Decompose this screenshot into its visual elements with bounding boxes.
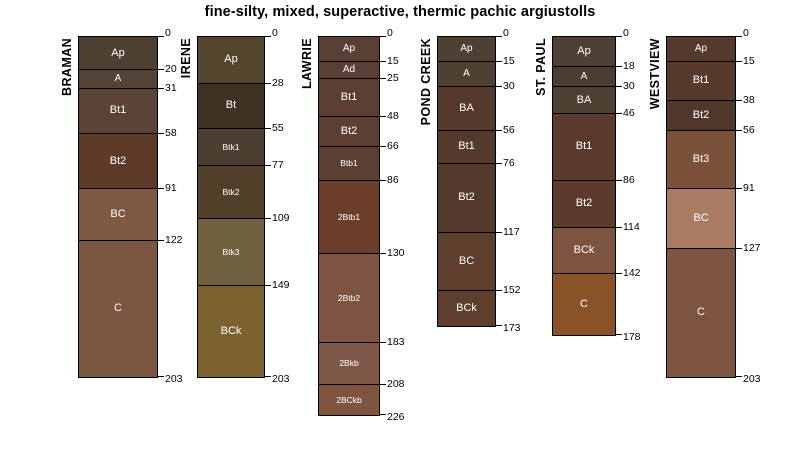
profile-name-label: ST. PAUL [534,38,548,96]
profile-column: ApBtBtk1Btk2Btk3BCk [197,36,265,378]
horizon-label: Ap [577,46,590,57]
horizon-label: BCk [574,245,595,256]
depth-tick-mark [264,128,271,129]
profile-name-label: BRAMAN [60,38,74,96]
horizon-label: BCk [221,326,242,337]
horizon-label: Ap [224,54,237,65]
depth-tick-label: 20 [165,64,177,75]
depth-tick-mark [379,78,386,79]
horizon-segment: A [438,62,495,87]
depth-tick-mark [157,133,164,134]
horizon-segment: BC [79,189,157,241]
horizon-label: 2Bkb [339,359,358,368]
profile-column: ApBt1Bt2Bt3BCC [666,36,736,378]
depth-tick-mark [495,130,502,131]
horizon-label: Ap [111,48,124,59]
depth-tick-label: 203 [165,374,183,385]
profile-column: ApABABt1Bt2BCkC [552,36,616,336]
profile-name-label: LAWRIE [300,38,314,89]
horizon-segment: Btb1 [319,147,379,180]
horizon-segment: A [79,70,157,88]
horizon-segment: Bt [198,84,264,129]
horizon-label: Bt1 [341,92,358,103]
profile-column: ApABt1Bt2BCC [78,36,158,378]
soil-profile-chart: BRAMANApABt1Bt2BCC020315891122203IRENEAp… [0,0,800,450]
horizon-label: Btk3 [222,248,239,257]
depth-tick-mark [495,61,502,62]
depth-tick-label: 0 [272,28,278,39]
depth-tick-label: 15 [387,56,399,67]
depth-tick-label: 77 [272,160,284,171]
horizon-segment: 2Bkb [319,343,379,385]
depth-tick-mark [615,66,622,67]
depth-tick-label: 86 [623,175,635,186]
horizon-label: A [463,69,470,79]
depth-tick-mark [379,61,386,62]
depth-tick-label: 66 [387,141,399,152]
depth-tick-label: 91 [165,183,177,194]
horizon-label: C [580,299,588,310]
horizon-segment: Bt1 [667,62,735,100]
horizon-label: Bt1 [576,141,593,152]
horizon-segment: A [553,67,615,87]
horizon-label: Bt3 [693,154,710,165]
horizon-label: Bt2 [576,198,593,209]
depth-tick-mark [615,86,622,87]
depth-tick-label: 31 [165,83,177,94]
horizon-label: Ap [460,44,472,54]
horizon-segment: 2BCkb [319,385,379,415]
horizon-segment: Ap [198,37,264,84]
depth-tick-label: 130 [387,248,405,259]
horizon-label: BCk [456,303,477,314]
depth-tick-label: 203 [272,374,290,385]
depth-tick-mark [379,36,386,37]
horizon-segment: C [667,249,735,376]
depth-tick-mark [264,165,271,166]
depth-tick-label: 55 [272,123,284,134]
horizon-segment: BCk [553,228,615,275]
horizon-label: Bt1 [458,141,475,152]
depth-tick-label: 30 [503,81,515,92]
depth-tick-mark [615,113,622,114]
depth-tick-label: 226 [387,412,405,423]
depth-tick-label: 122 [165,235,183,246]
horizon-segment: Ap [438,37,495,62]
horizon-segment: 2Btb2 [319,254,379,343]
depth-tick-label: 86 [387,175,399,186]
depth-tick-label: 109 [272,213,290,224]
profile-name-label: WESTVIEW [648,38,662,109]
depth-tick-label: 208 [387,379,405,390]
depth-tick-label: 48 [387,111,399,122]
depth-tick-mark [735,36,742,37]
horizon-label: 2Btb2 [338,294,360,303]
horizon-label: A [115,74,122,84]
depth-tick-mark [379,253,386,254]
horizon-segment: Bt2 [319,117,379,147]
horizon-segment: BCk [438,291,495,326]
horizon-segment: BA [438,87,495,130]
horizon-segment: Bt2 [438,164,495,233]
horizon-label: C [697,307,705,318]
depth-tick-mark [735,100,742,101]
horizon-segment: Btk3 [198,219,264,286]
depth-tick-label: 173 [503,323,521,334]
depth-tick-mark [379,414,386,415]
depth-tick-mark [735,188,742,189]
depth-tick-mark [379,342,386,343]
depth-tick-mark [157,240,164,241]
depth-tick-mark [264,376,271,377]
depth-tick-mark [157,69,164,70]
horizon-segment: 2Btb1 [319,181,379,255]
horizon-segment: BC [438,233,495,292]
horizon-label: BA [577,95,592,106]
depth-tick-label: 114 [623,222,640,233]
horizon-label: Bt1 [110,105,127,116]
depth-tick-label: 0 [387,28,393,39]
horizon-label: Ap [343,44,355,54]
depth-tick-mark [495,232,502,233]
depth-tick-mark [379,146,386,147]
depth-tick-mark [157,36,164,37]
depth-tick-label: 0 [743,28,749,39]
depth-tick-mark [495,290,502,291]
horizon-segment: Bt2 [553,181,615,228]
depth-tick-label: 46 [623,108,635,119]
profile-name-label: POND CREEK [419,38,433,125]
depth-tick-mark [495,36,502,37]
depth-tick-label: 178 [623,332,641,343]
depth-tick-label: 152 [503,285,521,296]
horizon-label: 2BCkb [336,396,362,405]
depth-tick-label: 149 [272,280,290,291]
depth-tick-label: 15 [743,56,755,67]
horizon-label: Bt2 [693,110,710,121]
depth-tick-label: 30 [623,81,635,92]
depth-tick-mark [615,334,622,335]
depth-tick-mark [495,325,502,326]
horizon-segment: Ap [79,37,157,70]
horizon-label: BA [459,103,474,114]
depth-tick-label: 142 [623,268,641,279]
horizon-label: 2Btb1 [338,213,360,222]
depth-tick-label: 25 [387,73,399,84]
horizon-label: BC [459,256,474,267]
horizon-label: Bt2 [458,192,475,203]
depth-tick-mark [264,36,271,37]
horizon-label: Btk2 [222,188,239,197]
depth-tick-mark [735,61,742,62]
horizon-label: Bt2 [110,156,127,167]
depth-tick-label: 127 [743,243,761,254]
depth-tick-label: 56 [743,125,755,136]
horizon-segment: BCk [198,286,264,376]
depth-tick-mark [264,218,271,219]
profile-column: ApABABt1Bt2BCBCk [437,36,496,327]
depth-tick-mark [615,227,622,228]
depth-tick-label: 203 [743,374,761,385]
horizon-label: Ad [343,65,355,75]
depth-tick-mark [735,376,742,377]
depth-tick-label: 0 [503,28,509,39]
horizon-segment: C [553,274,615,334]
horizon-segment: Btk1 [198,129,264,166]
depth-tick-label: 91 [743,183,755,194]
horizon-label: Bt1 [693,75,710,86]
depth-tick-label: 117 [503,227,520,238]
horizon-label: BC [110,209,125,220]
horizon-segment: Bt2 [79,134,157,189]
profile-column: ApAdBt1Bt2Btb12Btb12Btb22Bkb2BCkb [318,36,380,416]
depth-tick-label: 76 [503,158,515,169]
depth-tick-mark [495,86,502,87]
profile-name-label: IRENE [179,38,193,78]
horizon-segment: Bt3 [667,131,735,190]
depth-tick-mark [735,248,742,249]
horizon-label: Btb1 [340,159,358,168]
depth-tick-mark [615,180,622,181]
depth-tick-mark [379,384,386,385]
horizon-segment: Bt1 [319,79,379,117]
depth-tick-label: 0 [165,28,171,39]
depth-tick-label: 58 [165,128,177,139]
depth-tick-mark [264,83,271,84]
horizon-segment: Bt1 [553,114,615,181]
depth-tick-label: 183 [387,337,405,348]
depth-tick-mark [157,188,164,189]
depth-tick-label: 28 [272,78,284,89]
depth-tick-label: 18 [623,61,635,72]
depth-tick-label: 15 [503,56,515,67]
horizon-segment: Bt2 [667,101,735,131]
horizon-label: Bt2 [341,126,358,137]
horizon-segment: Btk2 [198,166,264,220]
depth-tick-mark [157,376,164,377]
horizon-segment: C [79,241,157,376]
depth-tick-label: 0 [623,28,629,39]
horizon-label: A [581,72,588,82]
horizon-segment: BC [667,189,735,249]
horizon-segment: BA [553,87,615,114]
horizon-segment: Ap [553,37,615,67]
depth-tick-mark [379,116,386,117]
depth-tick-mark [157,88,164,89]
horizon-segment: Ap [667,37,735,62]
depth-tick-mark [264,285,271,286]
depth-tick-mark [615,273,622,274]
horizon-segment: Bt1 [79,89,157,134]
depth-tick-label: 56 [503,125,515,136]
depth-tick-mark [735,130,742,131]
horizon-label: Ap [695,44,707,54]
horizon-label: C [114,303,122,314]
depth-tick-mark [379,180,386,181]
horizon-label: Btk1 [222,143,239,152]
horizon-label: Bt [226,100,236,111]
depth-tick-mark [495,163,502,164]
horizon-label: BC [693,213,708,224]
depth-tick-mark [615,36,622,37]
depth-tick-label: 38 [743,95,755,106]
horizon-segment: Ad [319,62,379,79]
horizon-segment: Ap [319,37,379,62]
horizon-segment: Bt1 [438,131,495,164]
